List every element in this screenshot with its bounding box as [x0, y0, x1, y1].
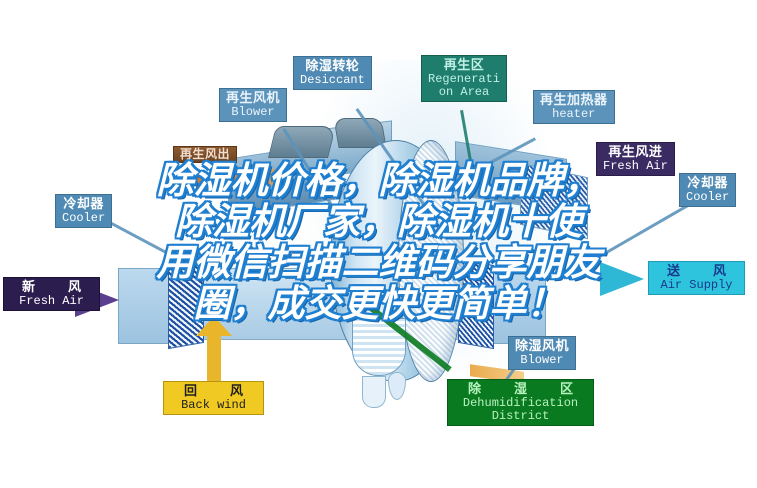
label-cooler-right: 冷却器 Cooler	[679, 173, 736, 207]
water-drop-small-icon	[388, 372, 406, 400]
label-regeneration-blower-cn: 再生风机	[226, 91, 280, 106]
label-regeneration-air-inlet-cn: 再生风进	[603, 145, 668, 160]
label-regeneration-heater-cn: 再生加热器	[540, 93, 608, 108]
water-drop-icon	[362, 376, 386, 408]
label-desiccant-wheel-cn: 除湿转轮	[300, 59, 365, 74]
supply-plenum	[486, 268, 546, 344]
label-back-wind: 回 风 Back wind	[163, 381, 264, 415]
label-cooler-right-en: Cooler	[686, 191, 729, 204]
desiccant-rotor-hub	[420, 248, 442, 274]
label-air-supply: 送 风 Air Supply	[648, 261, 745, 295]
label-regeneration-heater: 再生加热器 heater	[533, 90, 615, 124]
label-regeneration-blower-en: Blower	[226, 106, 280, 119]
leader-cooler-left	[111, 222, 192, 267]
label-cooler-right-cn: 冷却器	[686, 176, 729, 191]
label-fresh-air-en: Fresh Air	[12, 295, 91, 308]
label-regeneration-area-en2: on Area	[428, 86, 500, 99]
blower-housing-left	[268, 126, 336, 158]
label-dehumidification-district-cn: 除 湿 区	[458, 382, 583, 397]
label-regeneration-air-outlet: 再生风出	[173, 146, 237, 163]
label-dehumidify-blower-cn: 除湿风机	[515, 339, 569, 354]
label-back-wind-cn: 回 风	[174, 384, 253, 399]
label-regeneration-area-en1: Regenerati	[428, 73, 500, 86]
label-regeneration-air-inlet-en: Fresh Air	[603, 160, 668, 173]
air-supply-arrow-icon	[600, 262, 644, 296]
label-cooler-left: 冷却器 Cooler	[55, 194, 112, 228]
label-air-supply-en: Air Supply	[657, 279, 736, 292]
back-wind-arrow-head-icon	[196, 316, 232, 336]
label-back-wind-en: Back wind	[174, 399, 253, 412]
label-regeneration-heater-en: heater	[540, 108, 608, 121]
label-regeneration-blower: 再生风机 Blower	[219, 88, 287, 122]
label-fresh-air-cn: 新 风	[12, 280, 91, 295]
label-air-supply-cn: 送 风	[657, 264, 736, 279]
label-desiccant-wheel-en: Desiccant	[300, 74, 365, 87]
label-regeneration-area: 再生区 Regenerati on Area	[421, 55, 507, 102]
back-wind-arrow-stem-icon	[207, 330, 221, 382]
label-regeneration-air-inlet: 再生风进 Fresh Air	[596, 142, 675, 176]
label-cooler-left-en: Cooler	[62, 212, 105, 225]
label-dehumidify-blower-en: Blower	[515, 354, 569, 367]
label-dehumidification-district-en2: District	[458, 410, 583, 423]
label-regeneration-air-outlet-cn: 再生风出	[180, 148, 230, 161]
leader-cooler-right	[598, 203, 690, 258]
label-cooler-left-cn: 冷却器	[62, 197, 105, 212]
label-desiccant-wheel: 除湿转轮 Desiccant	[293, 56, 372, 90]
label-fresh-air: 新 风 Fresh Air	[3, 277, 100, 311]
dehumidifier-diagram: 除湿转轮 Desiccant 再生风机 Blower 再生区 Regenerat…	[0, 0, 757, 488]
label-regeneration-area-cn: 再生区	[428, 58, 500, 73]
label-dehumidify-blower: 除湿风机 Blower	[508, 336, 576, 370]
label-dehumidification-district-en1: Dehumidification	[458, 397, 583, 410]
label-dehumidification-district: 除 湿 区 Dehumidification District	[447, 379, 594, 426]
